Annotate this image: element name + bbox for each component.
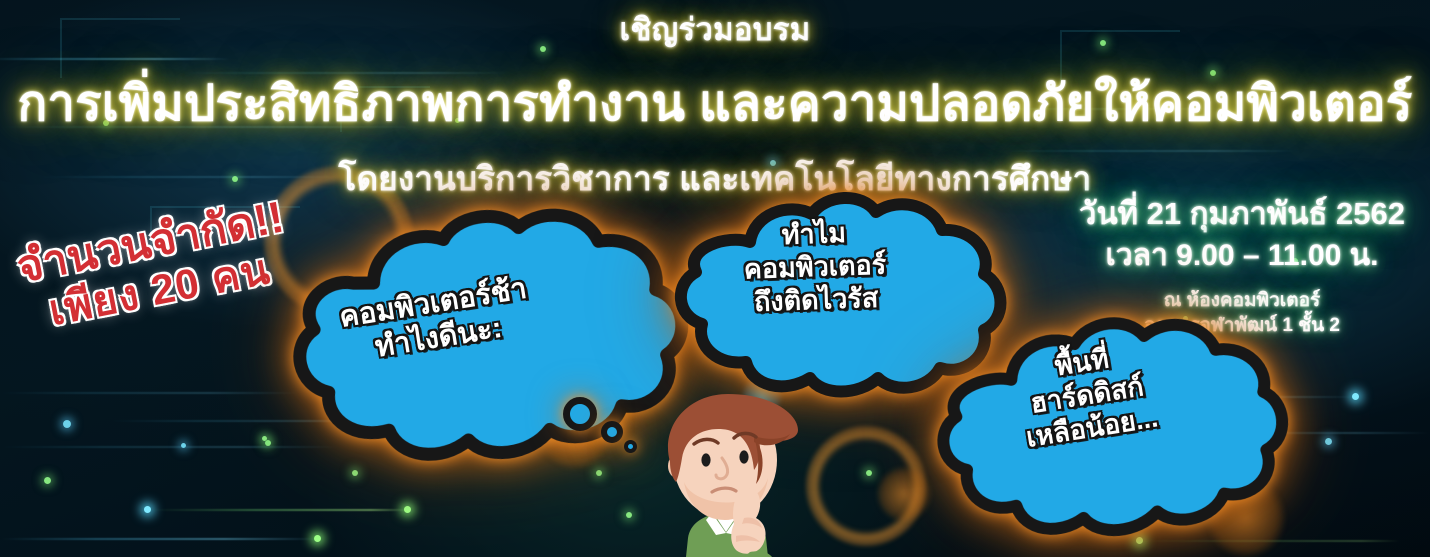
glow-dot	[181, 443, 186, 448]
line-endpoint	[1136, 537, 1143, 544]
event-date: วันที่ 21 กุมภาพันธ์ 2562	[1062, 196, 1422, 233]
kicker-text: เชิญร่วมอบรม	[0, 4, 1430, 54]
page-title: การเพิ่มประสิทธิภาพการทำงาน และความปลอดภ…	[0, 64, 1430, 142]
glow-dot	[265, 440, 271, 446]
glow-line	[1140, 540, 1400, 542]
glow-dot	[596, 470, 602, 476]
line-endpoint	[314, 535, 321, 542]
glow-line	[0, 392, 300, 394]
line-endpoint	[404, 506, 411, 513]
line-endpoint	[144, 506, 151, 513]
thought-bubble-2-text: ทำไม คอมพิวเตอร์ ถึงติดไวรัส	[698, 214, 931, 321]
thought-puff-medium	[601, 421, 623, 443]
line-endpoint	[1352, 393, 1359, 400]
glow-line	[0, 538, 320, 540]
thinking-person-illustration	[632, 386, 842, 557]
thinking-person-shape	[632, 386, 842, 557]
glow-line	[150, 509, 410, 511]
glow-line	[0, 58, 230, 60]
glow-dot	[866, 470, 872, 476]
event-time: เวลา 9.00 – 11.00 น.	[1062, 233, 1422, 278]
glow-dot	[262, 436, 267, 441]
glow-dot	[63, 420, 71, 428]
thought-puff-large	[563, 397, 597, 431]
bokeh-light	[876, 466, 932, 522]
glow-dot	[44, 477, 51, 484]
training-announcement-banner: เชิญร่วมอบรม การเพิ่มประสิทธิภาพการทำงาน…	[0, 0, 1430, 557]
glow-dot	[1325, 438, 1332, 445]
